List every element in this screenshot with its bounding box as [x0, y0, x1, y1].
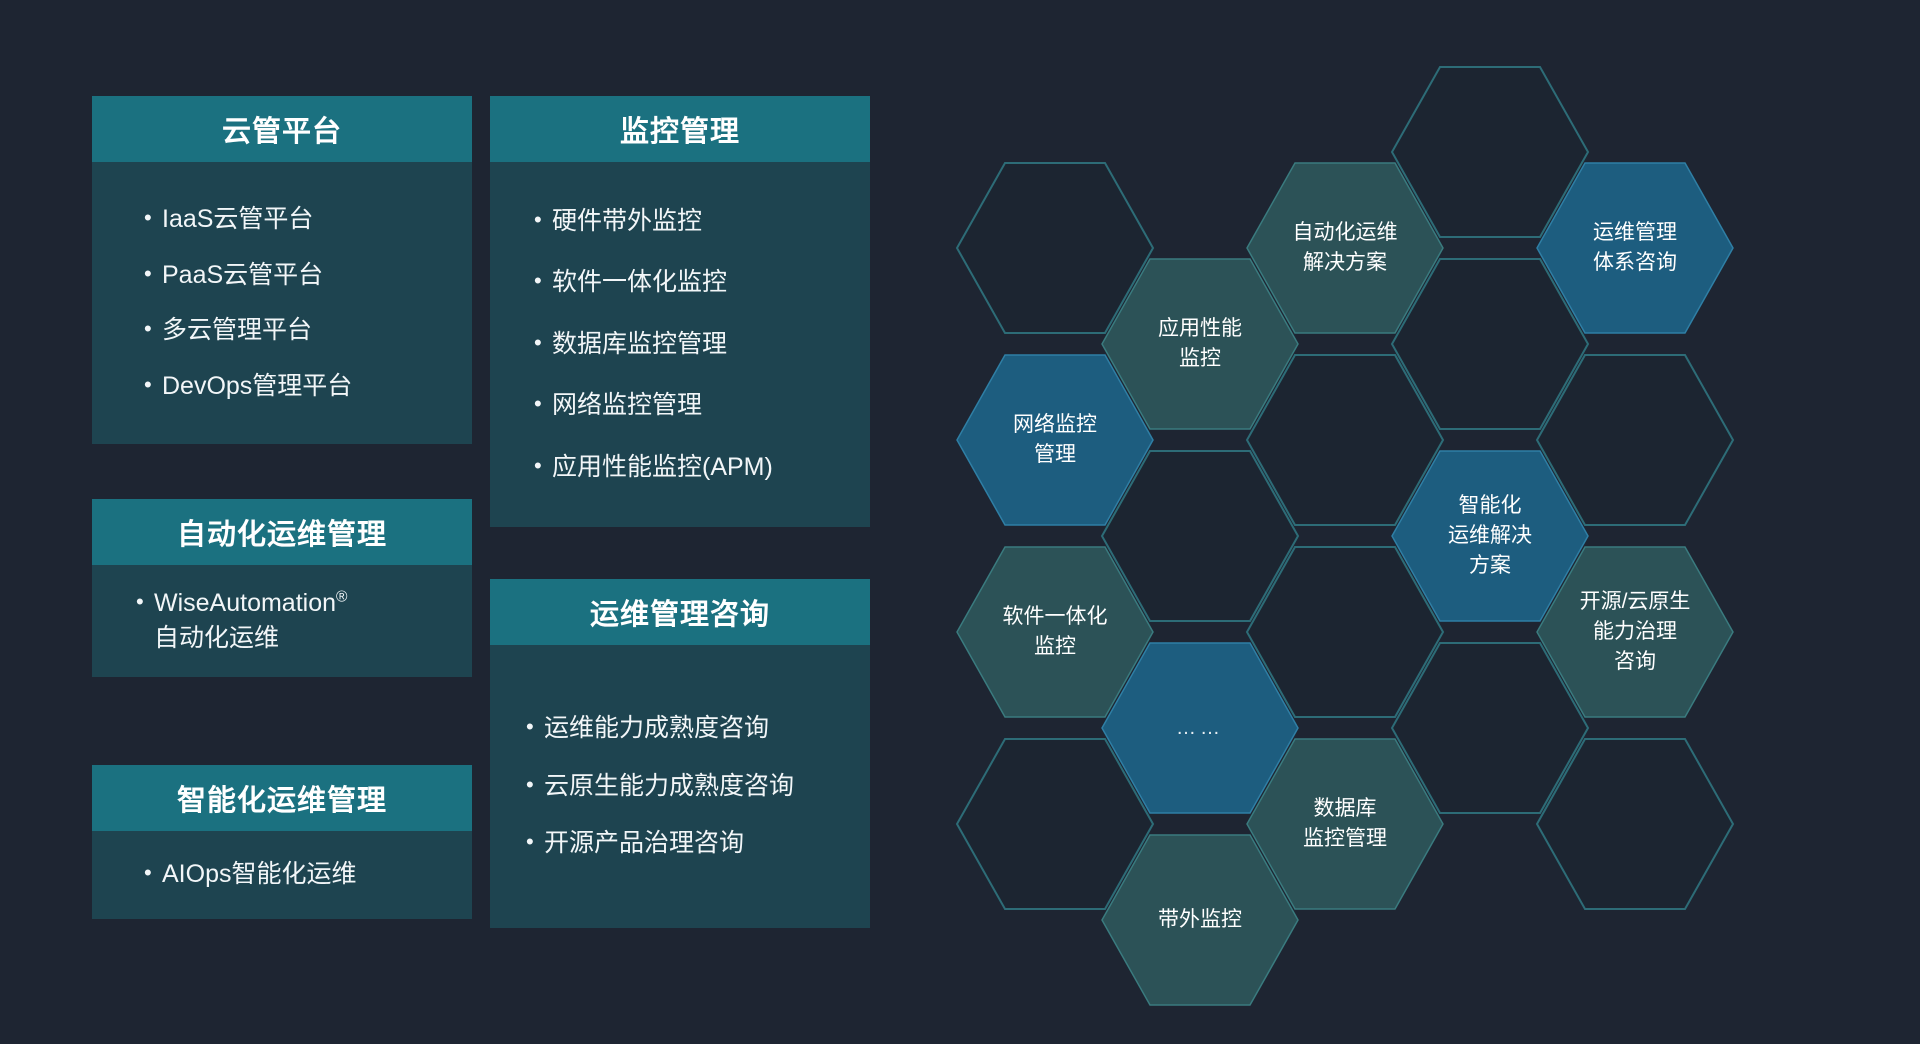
hexagon-shape-icon: [1535, 545, 1735, 719]
bullet-icon: •: [534, 327, 552, 358]
product-name: WiseAutomation: [154, 589, 336, 617]
bullet-icon: •: [526, 826, 544, 857]
list-item: • 软件一体化监控: [534, 265, 870, 301]
card-ops-consulting[interactable]: 运维管理咨询 • 运维能力成熟度咨询 • 云原生能力成熟度咨询 • 开源产品治理…: [490, 579, 870, 928]
list-item: • 云原生能力成熟度咨询: [526, 769, 870, 805]
product-subtitle: 自动化运维: [154, 624, 279, 652]
bullet-icon: •: [136, 586, 154, 617]
hexagon-capability-map: 网络监控管理软件一体化监控应用性能监控……带外监控自动化运维解决方案数据库监控管…: [900, 0, 1920, 1044]
list-item: • IaaS云管平台: [144, 202, 472, 238]
list-item: • 应用性能监控(APM): [534, 450, 870, 486]
hex-ops-consult[interactable]: 运维管理体系咨询: [1535, 161, 1735, 335]
bullet-icon: •: [144, 202, 162, 233]
bullet-icon: •: [534, 265, 552, 296]
bullet-icon: •: [144, 857, 162, 888]
card-aiops-management[interactable]: 智能化运维管理 • AIOps智能化运维: [92, 765, 472, 919]
bullet-icon: •: [534, 204, 552, 235]
list-item: • 多云管理平台: [144, 313, 472, 349]
card-ops-consulting-body: • 运维能力成熟度咨询 • 云原生能力成熟度咨询 • 开源产品治理咨询: [490, 645, 870, 928]
card-cloud-platform[interactable]: 云管平台 • IaaS云管平台 • PaaS云管平台 • 多云管理平台 • De…: [92, 96, 472, 444]
bullet-icon: •: [526, 769, 544, 800]
hex-oss-consult[interactable]: 开源/云原生能力治理咨询: [1535, 545, 1735, 719]
bullet-icon: •: [534, 450, 552, 481]
hexagon-shape-icon: [1535, 353, 1735, 527]
list-item: • DevOps管理平台: [144, 369, 472, 405]
hex-empty-c5r2: [1535, 353, 1735, 527]
list-item: • 运维能力成熟度咨询: [526, 711, 870, 747]
bullet-icon: •: [526, 711, 544, 742]
hexagon-shape-icon: [1535, 737, 1735, 911]
list-item: • WiseAutomation®自动化运维: [136, 586, 472, 657]
list-item: • 数据库监控管理: [534, 327, 870, 363]
list-item: • 开源产品治理咨询: [526, 826, 870, 862]
card-monitoring-management-title: 监控管理: [490, 96, 870, 162]
bullet-icon: •: [144, 258, 162, 289]
card-automation-ops-title: 自动化运维管理: [92, 499, 472, 565]
capability-cards-panel: 云管平台 • IaaS云管平台 • PaaS云管平台 • 多云管理平台 • De…: [0, 0, 900, 1044]
registered-mark-icon: ®: [336, 588, 347, 605]
slide-canvas: 云管平台 • IaaS云管平台 • PaaS云管平台 • 多云管理平台 • De…: [0, 0, 1920, 1044]
card-monitoring-management-body: • 硬件带外监控 • 软件一体化监控 • 数据库监控管理 • 网络监控管理 •: [490, 162, 870, 527]
card-aiops-management-body: • AIOps智能化运维: [92, 831, 472, 919]
bullet-icon: •: [144, 313, 162, 344]
card-automation-ops-body: • WiseAutomation®自动化运维: [92, 565, 472, 677]
card-cloud-platform-title: 云管平台: [92, 96, 472, 162]
card-aiops-management-title: 智能化运维管理: [92, 765, 472, 831]
hexagon-shape-icon: [1535, 161, 1735, 335]
list-item: • 硬件带外监控: [534, 204, 870, 240]
card-ops-consulting-title: 运维管理咨询: [490, 579, 870, 645]
card-monitoring-management[interactable]: 监控管理 • 硬件带外监控 • 软件一体化监控 • 数据库监控管理 • 网络监控…: [490, 96, 870, 527]
card-automation-ops[interactable]: 自动化运维管理 • WiseAutomation®自动化运维: [92, 499, 472, 677]
list-item: • AIOps智能化运维: [144, 857, 472, 893]
bullet-icon: •: [534, 388, 552, 419]
card-cloud-platform-body: • IaaS云管平台 • PaaS云管平台 • 多云管理平台 • DevOps管…: [92, 162, 472, 444]
bullet-icon: •: [144, 369, 162, 400]
hex-empty-c5r4: [1535, 737, 1735, 911]
list-item: • 网络监控管理: [534, 388, 870, 424]
list-item: • PaaS云管平台: [144, 258, 472, 294]
